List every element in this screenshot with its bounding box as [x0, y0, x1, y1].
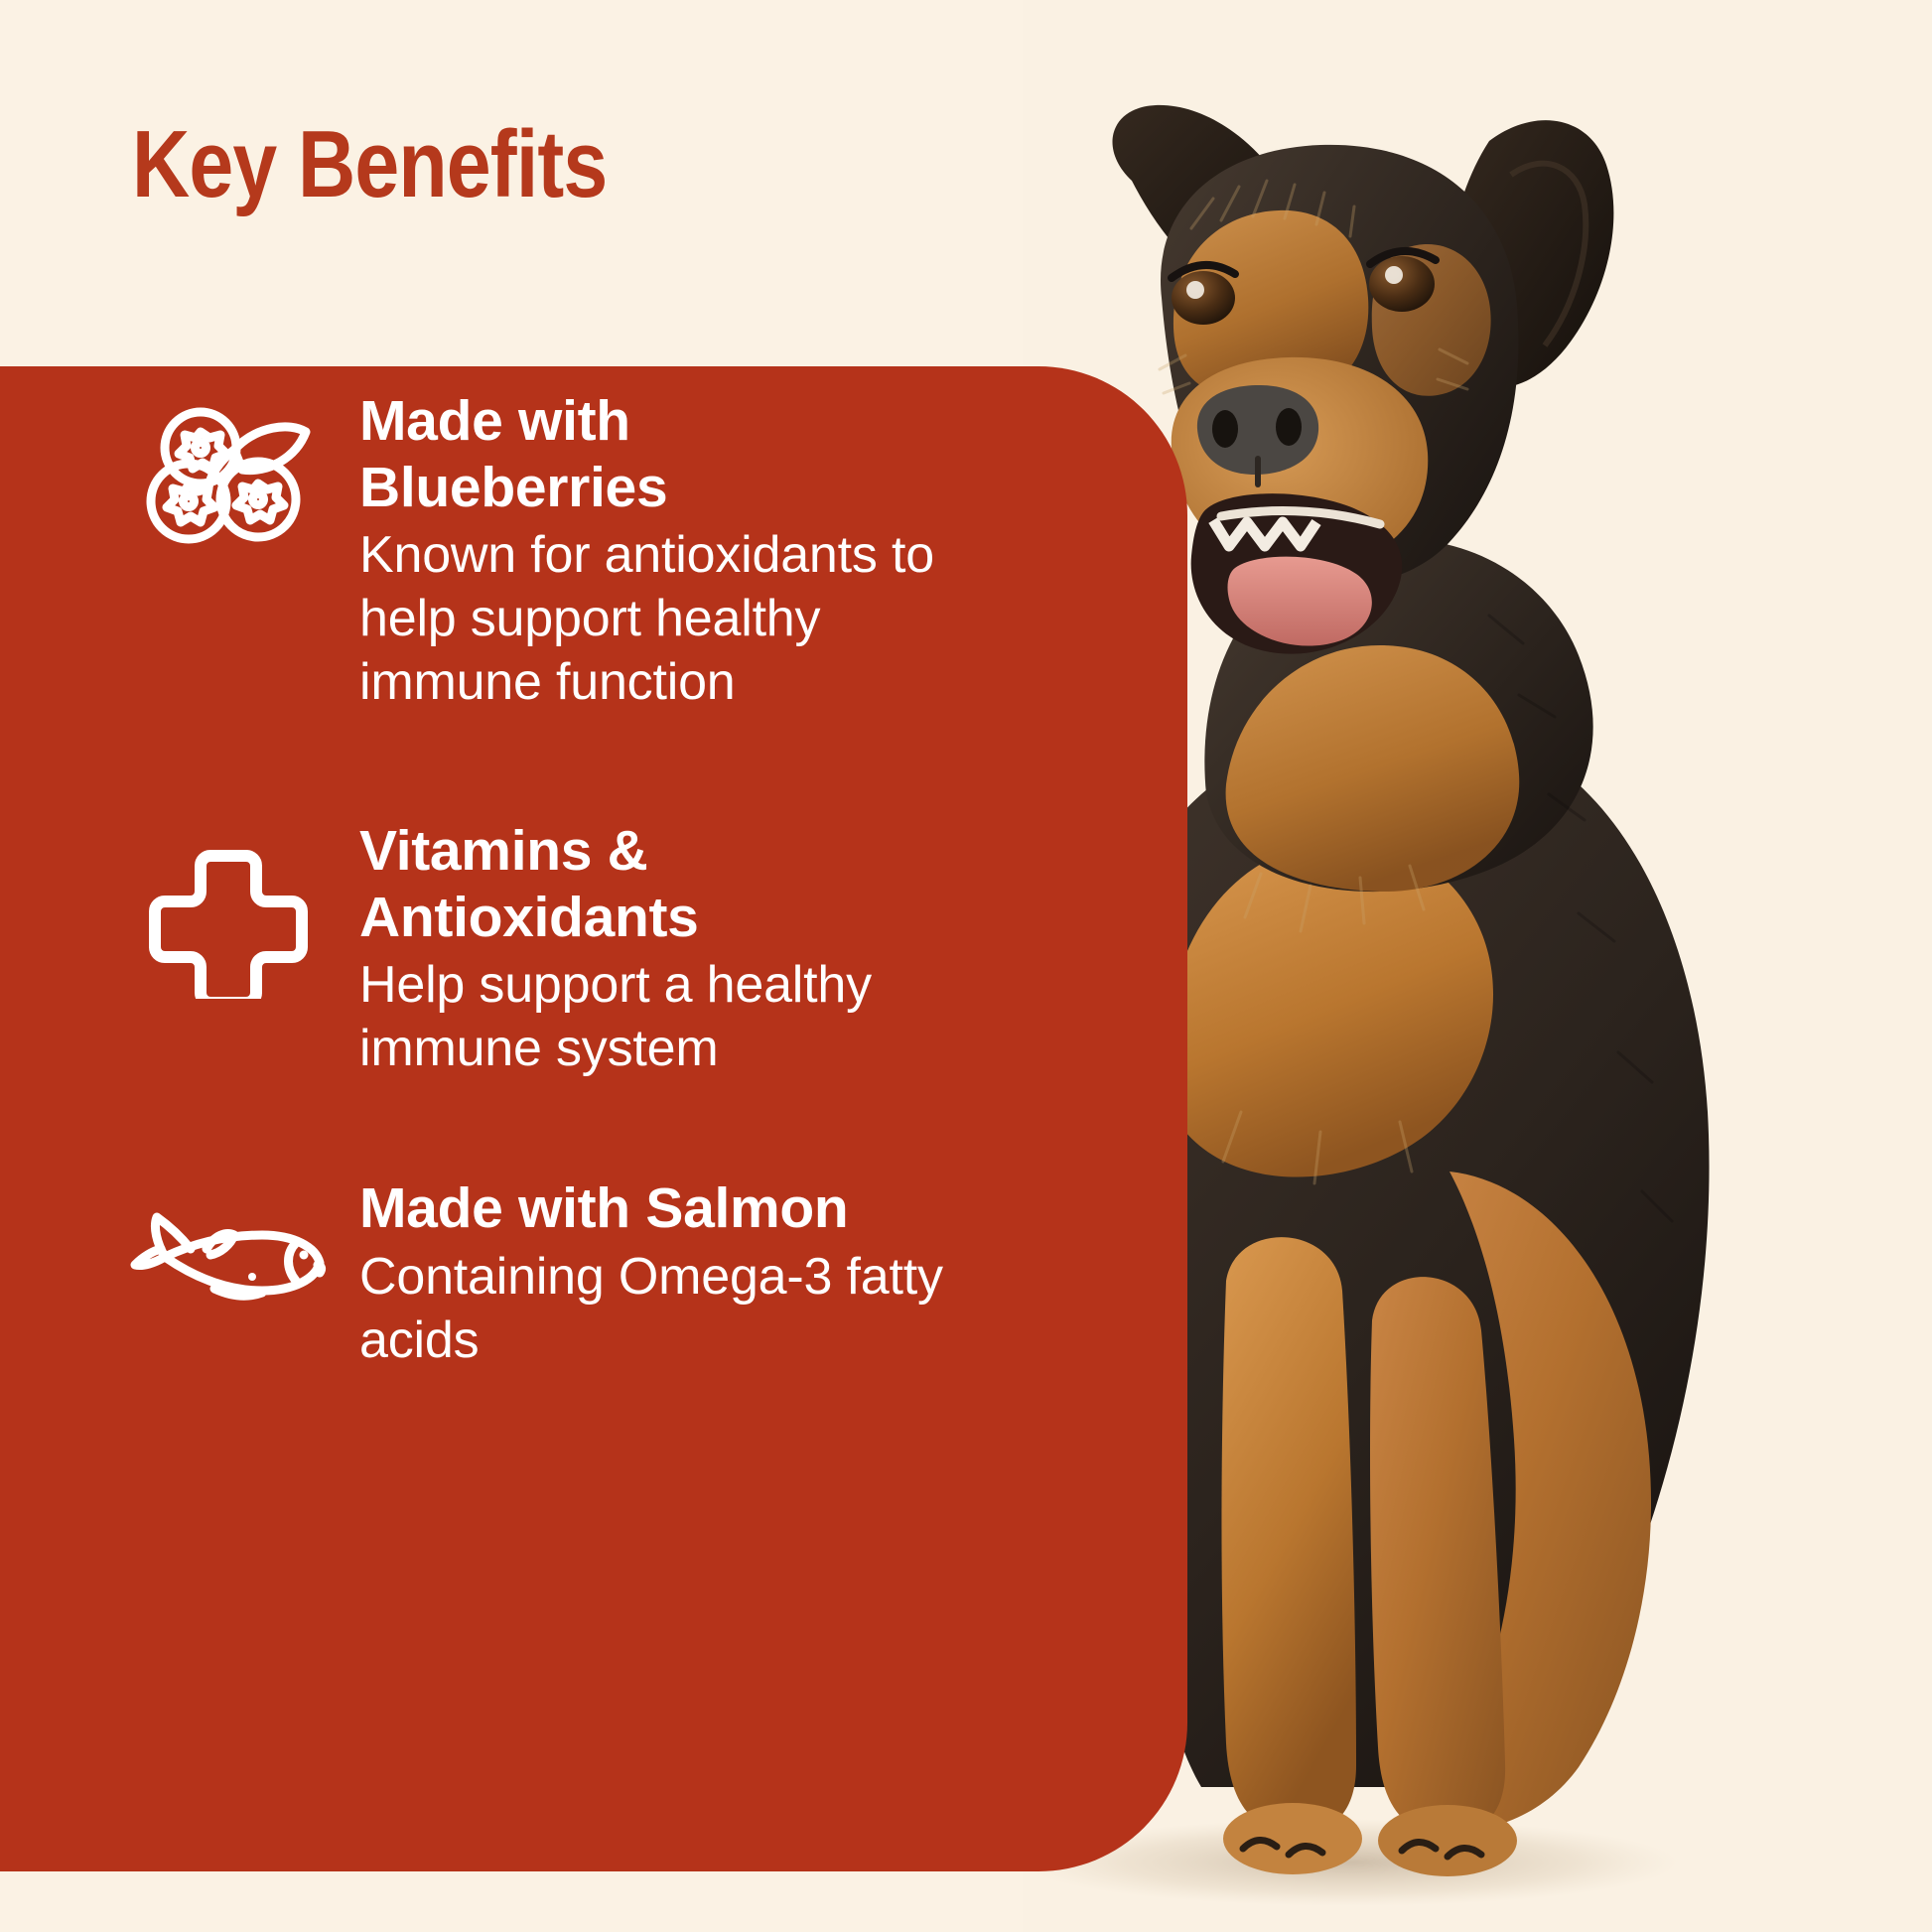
benefit-title: Made with Salmon — [359, 1175, 1023, 1242]
benefit-text-salmon: Made with Salmon Containing Omega-3 fatt… — [328, 1175, 1023, 1373]
plus-icon — [129, 818, 328, 999]
benefit-item-vitamins: Vitamins & Antioxidants Help support a h… — [129, 818, 1023, 1081]
benefit-item-blueberries: Made with Blueberries Known for antioxid… — [129, 388, 1023, 715]
key-benefits-graphic: Key Benefits — [0, 0, 1932, 1932]
benefits-list: Made with Blueberries Known for antioxid… — [0, 366, 1187, 1871]
benefit-description: Help support a healthy immune system — [359, 954, 995, 1081]
benefit-title: Made with Blueberries — [359, 388, 915, 520]
salmon-fish-icon — [129, 1175, 328, 1324]
benefit-description: Known for antioxidants to help support h… — [359, 524, 995, 715]
benefit-title: Vitamins & Antioxidants — [359, 818, 915, 950]
benefits-panel: Made with Blueberries Known for antioxid… — [0, 366, 1187, 1871]
benefit-text-blueberries: Made with Blueberries Known for antioxid… — [328, 388, 1023, 715]
page-title: Key Benefits — [132, 117, 607, 212]
benefit-description: Containing Omega-3 fatty acids — [359, 1246, 995, 1373]
benefit-text-vitamins: Vitamins & Antioxidants Help support a h… — [328, 818, 1023, 1081]
benefit-item-salmon: Made with Salmon Containing Omega-3 fatt… — [129, 1175, 1023, 1373]
blueberries-icon — [129, 388, 328, 549]
